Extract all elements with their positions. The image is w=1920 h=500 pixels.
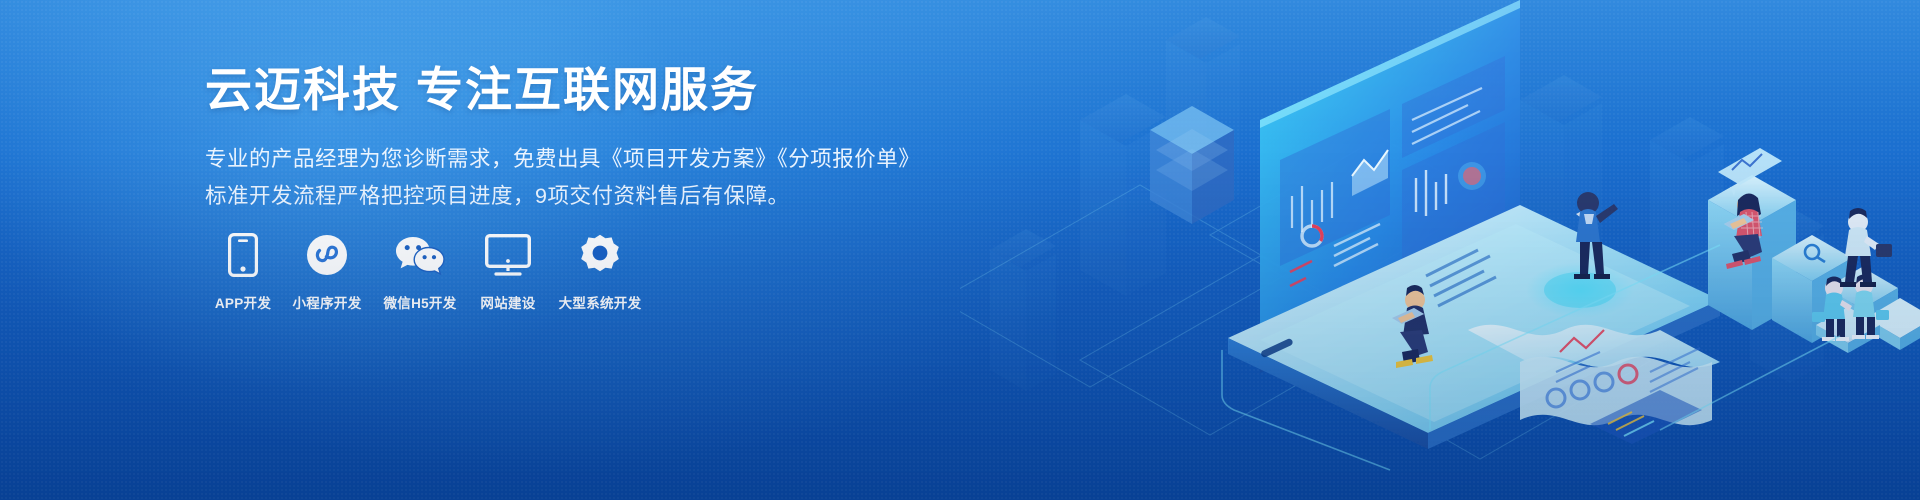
two-people-talking [1812,275,1889,354]
service-item-large-system[interactable]: 大型系统开发 [549,228,651,312]
person-sitting-on-phone [1392,250,1496,368]
service-label: 网站建设 [480,292,535,312]
monitor-icon [485,228,531,282]
banner-copy: 云迈科技 专注互联网服务 专业的产品经理为您诊断需求，免费出具《项目开发方案》《… [205,62,965,215]
person-climbing-stairs [1840,208,1892,287]
subtitle-line-1: 专业的产品经理为您诊断需求，免费出具《项目开发方案》《分项报价单》 [205,141,965,178]
service-label: 小程序开发 [293,292,362,312]
data-sheet-scroll [1468,325,1720,444]
mini-program-icon [306,228,348,282]
subtitle-line-2: 标准开发流程严格把控项目进度，9项交付资料售后有保障。 [205,178,965,215]
hero-banner: 云迈科技 专注互联网服务 专业的产品经理为您诊断需求，免费出具《项目开发方案》《… [0,0,1920,500]
city-buildings [990,17,1824,391]
mobile-phone-icon [228,228,258,282]
service-item-app[interactable]: APP开发 [205,228,281,312]
service-item-miniprogram[interactable]: 小程序开发 [281,228,373,312]
smartphone-platform [1228,205,1720,449]
stair-blocks [1708,175,1920,350]
gear-icon [579,228,621,282]
wechat-icon [395,228,445,282]
isometric-tech-illustration [960,0,1920,500]
service-list: APP开发 小程序开发 微信 [205,228,651,312]
person-with-laptop [1718,148,1782,269]
page-title: 云迈科技 专注互联网服务 [205,62,965,117]
banner-subtitle: 专业的产品经理为您诊断需求，免费出具《项目开发方案》《分项报价单》 标准开发流程… [205,141,965,215]
service-item-website[interactable]: 网站建设 [467,228,549,312]
service-label: 微信H5开发 [383,292,456,312]
connector-lines [1222,245,1840,470]
server-rack [1150,106,1234,224]
service-label: 大型系统开发 [559,292,642,312]
person-presenting [1574,192,1618,279]
service-label: APP开发 [215,292,271,312]
isometric-grid [960,137,1650,459]
dashboard-screen [1260,0,1520,373]
service-item-wechat-h5[interactable]: 微信H5开发 [373,228,467,312]
